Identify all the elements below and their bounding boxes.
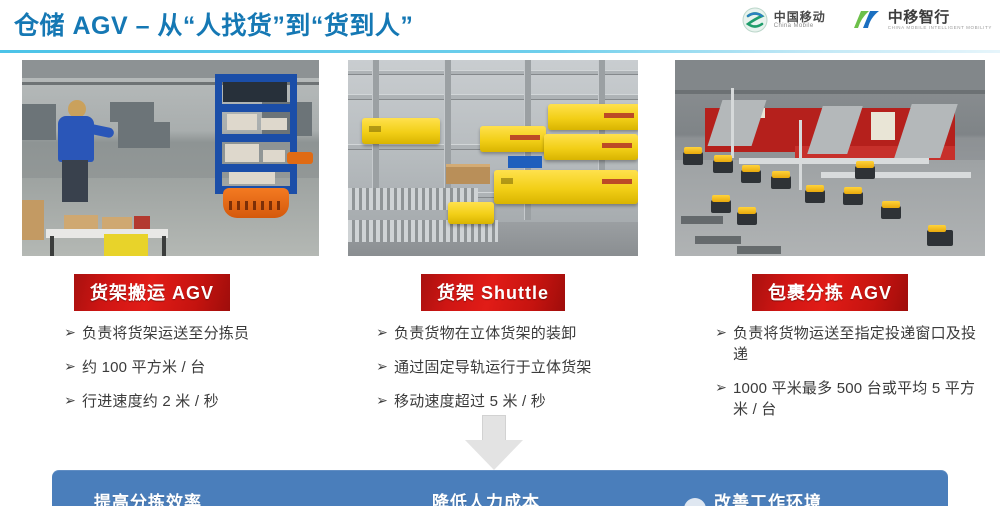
china-mobile-logo-text: 中国移动 China Mobile	[774, 11, 826, 30]
list-item-label: 行进速度约 2 米 / 秒	[82, 391, 219, 412]
zhongyi-zhixing-logo: 中移智行 CHINA MOBILE INTELLIGENT MOBILITY	[852, 8, 992, 32]
photo1-blue-shelf-rack	[215, 74, 297, 194]
list-item: ➢ 约 100 平方米 / 台	[58, 357, 319, 378]
list-item: ➢ 负责货物在立体货架的装卸	[370, 323, 638, 344]
photo2-shuttle-1-marking	[369, 126, 381, 132]
title-divider-rule	[0, 50, 1000, 53]
photo1-carton-2	[102, 217, 132, 229]
photo1-table-leg-right	[162, 236, 166, 256]
photo3-roof-beam	[675, 90, 985, 94]
photo-shelf-shuttle	[348, 60, 638, 256]
down-arrow-icon	[465, 415, 523, 473]
photo3-pole-1	[731, 88, 734, 158]
photo1-background-agv	[287, 152, 313, 164]
photo3-agv-robot	[855, 166, 875, 179]
photo1-bg-shelf-a	[110, 102, 154, 122]
bullet-list-col1: ➢ 负责将货架运送至分拣员 ➢ 约 100 平方米 / 台 ➢ 行进速度约 2 …	[22, 323, 319, 412]
photo3-agv-robot	[713, 160, 733, 173]
photo3-agv-robot	[881, 206, 901, 219]
photo3-roof	[675, 60, 985, 90]
column-parcel-sorting-agv: 包裹分拣 AGV ➢ 负责将货物运送至指定投递窗口及投递 ➢ 1000 平米最多…	[675, 60, 985, 433]
photo1-bg-shelf-b	[118, 122, 170, 148]
bullet-arrow-icon: ➢	[709, 323, 733, 343]
list-item-label: 通过固定导轨运行于立体货架	[394, 357, 592, 378]
photo2-shuttle-5-label	[602, 179, 632, 184]
banner-parcel-sorting-agv: 包裹分拣 AGV	[752, 274, 908, 311]
zhixing-logo-text: 中移智行 CHINA MOBILE INTELLIGENT MOBILITY	[888, 10, 992, 30]
china-mobile-globe-icon	[742, 7, 768, 33]
photo1-carton-1	[64, 215, 98, 229]
photo1-rack-package-2	[261, 118, 287, 130]
photo1-rack-package-1	[227, 114, 257, 130]
page-title: 仓储 AGV – 从“人找货”到“货到人”	[14, 6, 413, 42]
list-item: ➢ 行进速度约 2 米 / 秒	[58, 391, 319, 412]
down-arrow-stem	[482, 415, 506, 441]
list-item: ➢ 移动速度超过 5 米 / 秒	[370, 391, 638, 412]
photo2-shuttle-5	[494, 170, 638, 204]
photo1-agv-light-strip	[229, 201, 283, 210]
photo1-rack-bin-1	[223, 82, 287, 102]
list-item: ➢ 负责将货架运送至分拣员	[58, 323, 319, 344]
photo2-rail-1	[348, 70, 638, 75]
bullet-arrow-icon: ➢	[370, 323, 394, 343]
photo3-agv-robot	[711, 200, 731, 213]
photo1-worker-legs	[62, 160, 88, 202]
list-item-label: 负责将货物运送至指定投递窗口及投递	[733, 323, 985, 365]
photo2-rail-2	[348, 94, 638, 100]
bullet-arrow-icon: ➢	[709, 378, 733, 398]
list-item-label: 负责货物在立体货架的装卸	[394, 323, 576, 344]
photo1-rack-package-3	[225, 144, 259, 162]
photo3-agv-robot	[737, 212, 757, 225]
zhixing-swoosh-icon	[852, 8, 882, 32]
photo2-blue-bin	[508, 156, 542, 168]
photo2-shuttle-3	[548, 104, 638, 130]
down-arrow-tip	[465, 440, 523, 470]
banner-wrap-col1: 货架搬运 AGV	[22, 256, 319, 311]
photo1-rack-shelf-1	[215, 74, 297, 82]
photo3-conveyor-rail-2	[821, 172, 971, 178]
photo1-yellow-bin	[104, 234, 148, 256]
photo3-floor-mat-3	[737, 246, 781, 254]
photo2-shuttle-3-label	[604, 113, 634, 118]
slide-root: 仓储 AGV – 从“人找货”到“货到人” 中国移动 China Mobile	[0, 0, 1000, 506]
photo1-rack-shelf-3	[215, 134, 297, 142]
photo2-shuttle-5-marking	[501, 178, 513, 184]
bullet-arrow-icon: ➢	[58, 391, 82, 411]
photo2-shuttle-6	[448, 202, 494, 224]
china-mobile-logo-en: China Mobile	[774, 23, 826, 29]
column-shelf-shuttle: 货架 Shuttle ➢ 负责货物在立体货架的装卸 ➢ 通过固定导轨运行于立体货…	[348, 60, 638, 425]
photo1-orange-agv-robot	[223, 188, 289, 218]
list-item-label: 负责将货架运送至分拣员	[82, 323, 249, 344]
bullet-arrow-icon: ➢	[370, 391, 394, 411]
list-item-label: 移动速度超过 5 米 / 秒	[394, 391, 546, 412]
slide-header: 仓储 AGV – 从“人找货”到“货到人” 中国移动 China Mobile	[0, 0, 1000, 53]
photo3-agv-robot	[741, 170, 761, 183]
photo1-floor-carton	[22, 200, 44, 240]
photo2-shuttle-2	[480, 126, 546, 152]
photo1-rack-shelf-2	[215, 104, 297, 112]
photo3-window-1	[871, 112, 895, 140]
photo3-agv-robot	[805, 190, 825, 203]
photo-parcel-sorting-agv	[675, 60, 985, 256]
photo1-rack-package-5	[229, 172, 275, 184]
photo1-rack-package-4	[263, 150, 285, 162]
photo3-floor-mat-1	[681, 216, 723, 224]
bullet-arrow-icon: ➢	[370, 357, 394, 377]
column-shelf-transport-agv: 货架搬运 AGV ➢ 负责将货架运送至分拣员 ➢ 约 100 平方米 / 台 ➢…	[22, 60, 319, 425]
photo1-rack-shelf-4	[215, 164, 297, 172]
banner-shelf-transport-agv: 货架搬运 AGV	[74, 274, 230, 311]
benefit-item-work-environment: 改善工作环境	[714, 488, 822, 506]
photo2-shuttle-4-label	[602, 143, 632, 148]
list-item-label: 1000 平米最多 500 台或平均 5 平方米 / 台	[733, 378, 985, 420]
photo1-red-carton	[134, 216, 150, 229]
banner-wrap-col3: 包裹分拣 AGV	[675, 256, 985, 311]
bullet-list-col2: ➢ 负责货物在立体货架的装卸 ➢ 通过固定导轨运行于立体货架 ➢ 移动速度超过 …	[348, 323, 638, 412]
bullet-arrow-icon: ➢	[58, 323, 82, 343]
zhixing-logo-cn: 中移智行	[888, 10, 992, 26]
zhixing-logo-en: CHINA MOBILE INTELLIGENT MOBILITY	[888, 26, 992, 31]
photo2-carton	[446, 164, 490, 184]
banner-shelf-shuttle: 货架 Shuttle	[421, 274, 565, 311]
list-item: ➢ 1000 平米最多 500 台或平均 5 平方米 / 台	[709, 378, 985, 420]
list-item-label: 约 100 平方米 / 台	[82, 357, 205, 378]
list-item: ➢ 通过固定导轨运行于立体货架	[370, 357, 638, 378]
banner-wrap-col2: 货架 Shuttle	[348, 256, 638, 311]
photo-shelf-transport-agv	[22, 60, 319, 256]
benefits-bar: 提高分拣效率 降低人力成本 改善工作环境	[52, 470, 948, 506]
logo-group: 中国移动 China Mobile 中移智行 CHINA MOBILE INTE…	[742, 7, 992, 33]
photo3-agv-robot	[843, 192, 863, 205]
photo3-conveyor-rail	[739, 158, 929, 164]
photo1-table-leg-left	[50, 236, 54, 256]
photo1-worker-torso	[58, 116, 94, 162]
china-mobile-logo-cn: 中国移动	[774, 11, 826, 24]
photo2-shuttle-1	[362, 118, 440, 144]
benefit-item-labor-cost: 降低人力成本	[432, 488, 540, 506]
bullet-list-col3: ➢ 负责将货物运送至指定投递窗口及投递 ➢ 1000 平米最多 500 台或平均…	[675, 323, 985, 420]
photo3-agv-robot	[771, 176, 791, 189]
photo2-shuttle-2-label	[510, 135, 540, 140]
photo1-bg-shelf-c	[22, 104, 56, 140]
photo3-agv-robot	[683, 152, 703, 165]
photo3-floor-mat-2	[695, 236, 741, 244]
china-mobile-logo: 中国移动 China Mobile	[742, 7, 826, 33]
bullet-arrow-icon: ➢	[58, 357, 82, 377]
photo3-pole-2	[799, 120, 802, 190]
benefits-bar-bullet-circle	[684, 498, 706, 506]
photo2-shuttle-4	[544, 134, 638, 160]
benefit-item-efficiency: 提高分拣效率	[94, 488, 202, 506]
list-item: ➢ 负责将货物运送至指定投递窗口及投递	[709, 323, 985, 365]
photo3-agv-robot	[927, 230, 953, 246]
